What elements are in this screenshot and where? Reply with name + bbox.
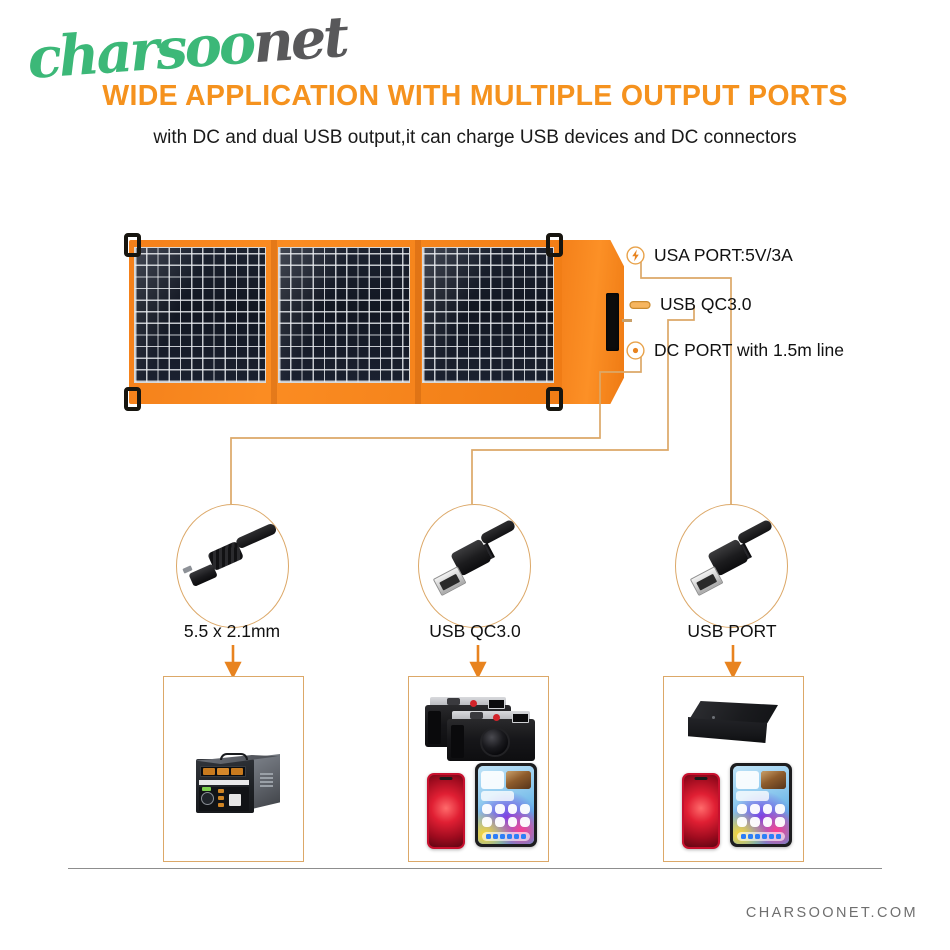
tablet-image — [730, 763, 792, 847]
camera-front-image — [447, 705, 535, 763]
page-subtitle: with DC and dual USB output,it can charg… — [0, 127, 950, 149]
connector-circle-dc — [176, 504, 289, 628]
portable-power-station-image — [190, 751, 282, 815]
device-box-power-bank — [663, 676, 804, 862]
port-legend-qc: USB QC3.0 — [629, 294, 751, 315]
usb-pill-icon — [629, 299, 651, 311]
connector-circle-usb-port — [675, 504, 788, 628]
connector-circle-usb-qc — [418, 504, 531, 628]
port-legend-dc: DC PORT with 1.5m line — [626, 340, 844, 361]
connector-label-dc: 5.5 x 2.1mm — [122, 621, 342, 642]
lightning-bolt-circle-icon — [626, 246, 645, 265]
connector-label-usb-port: USB PORT — [622, 621, 842, 642]
usb-a-plug-icon — [676, 505, 787, 627]
infographic-canvas: charsoonet WIDE APPLICATION WITH MULTIPL… — [0, 0, 950, 950]
usb-a-plug-icon — [419, 505, 530, 627]
phone-image — [427, 773, 465, 849]
power-bank-image — [686, 699, 784, 755]
dc-circle-dot-icon — [626, 341, 645, 360]
dc-barrel-plug-icon — [177, 505, 288, 627]
phone-image — [682, 773, 720, 849]
tablet-image — [475, 763, 537, 847]
connector-label-usb-qc: USB QC3.0 — [365, 621, 585, 642]
port-legend-dc-label: DC PORT with 1.5m line — [654, 340, 844, 361]
device-box-cameras — [408, 676, 549, 862]
port-legend-usa-label: USA PORT:5V/3A — [654, 245, 793, 266]
device-box-power-station — [163, 676, 304, 862]
footer-watermark: CHARSOONET.COM — [746, 905, 918, 921]
port-legend-qc-label: USB QC3.0 — [660, 294, 751, 315]
page-title: WIDE APPLICATION WITH MULTIPLE OUTPUT PO… — [0, 80, 950, 113]
port-legend-usa: USA PORT:5V/3A — [626, 245, 793, 266]
